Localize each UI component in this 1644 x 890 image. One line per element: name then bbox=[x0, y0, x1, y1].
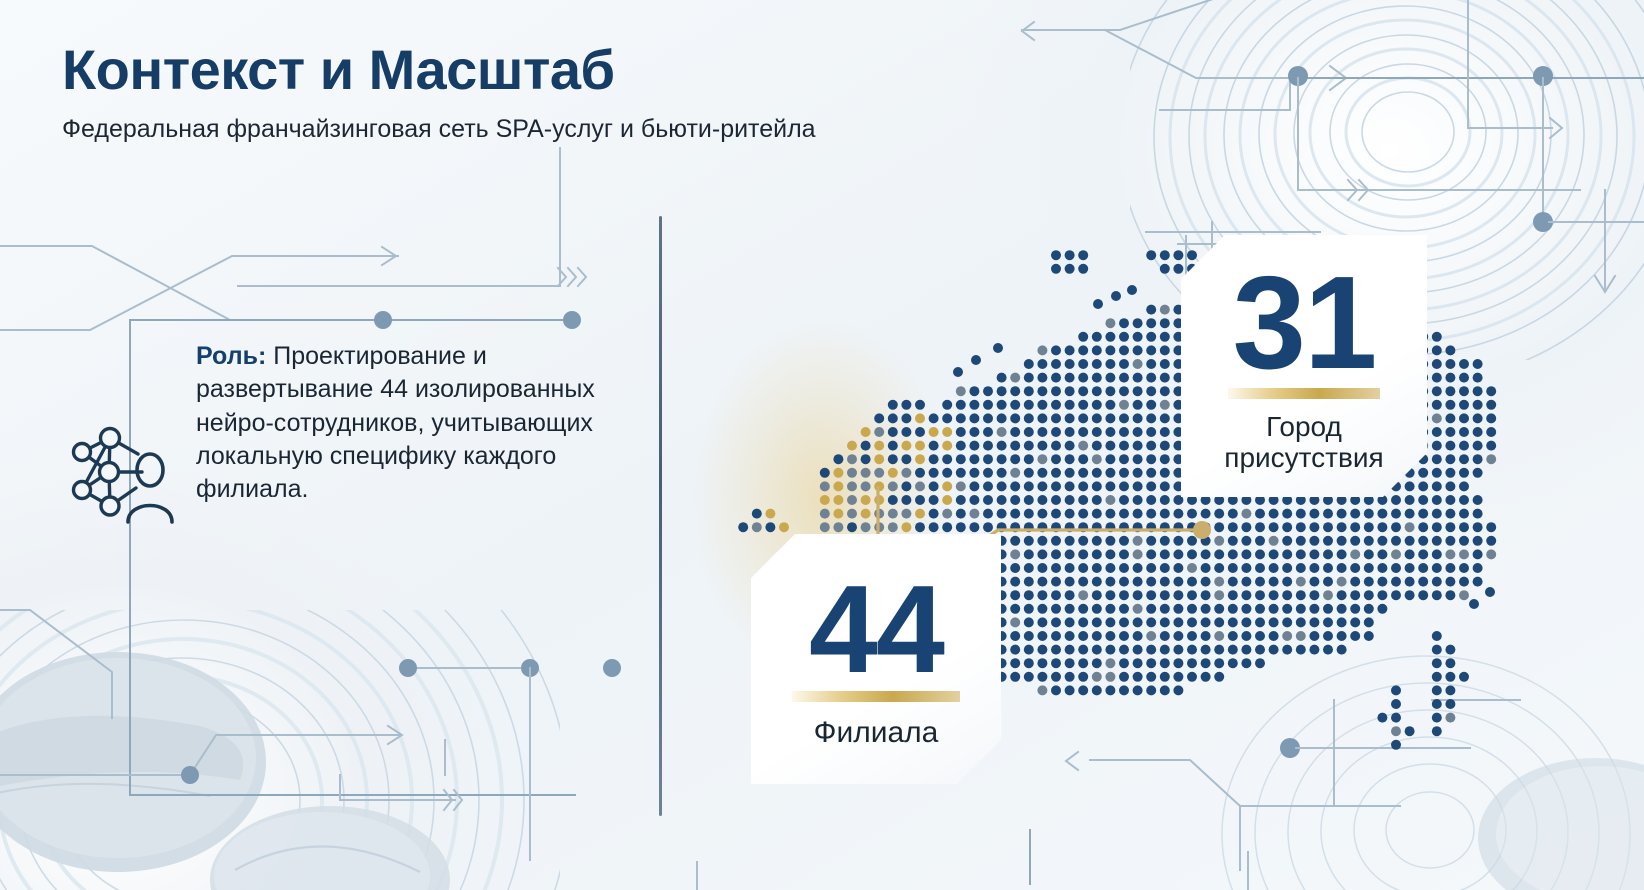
person-body bbox=[128, 506, 172, 523]
stat-value: 31 bbox=[1233, 262, 1376, 383]
circuit-node bbox=[1288, 66, 1308, 86]
circuit-path bbox=[1105, 30, 1300, 78]
circuit-path bbox=[1022, 0, 1240, 30]
gold-underline-bar bbox=[1228, 388, 1380, 399]
circuit-node bbox=[521, 659, 539, 677]
circuit-node bbox=[374, 311, 392, 329]
map-connector-node-31 bbox=[1193, 521, 1211, 539]
circuit-node bbox=[563, 311, 581, 329]
stat-card-branches[interactable]: 44 Филиала bbox=[751, 534, 1001, 784]
stat-label: Филиала bbox=[814, 716, 939, 750]
gold-underline-bar bbox=[792, 691, 960, 702]
circuit-chevron-icon bbox=[1348, 180, 1368, 200]
stat-value: 44 bbox=[809, 573, 943, 687]
circuit-arrow-icon bbox=[1022, 22, 1034, 40]
circuit-node bbox=[399, 659, 417, 677]
page-title: Контекст и Масштаб bbox=[62, 40, 816, 100]
circuit-path bbox=[1298, 78, 1580, 190]
circuit-node bbox=[1533, 66, 1553, 86]
circuit-node bbox=[603, 659, 621, 677]
stat-card-cities[interactable]: 31 Город присутствия bbox=[1181, 235, 1427, 497]
circuit-path bbox=[0, 256, 398, 330]
spa-stone bbox=[0, 652, 266, 872]
slide-root: Контекст и Масштаб Федеральная франчайзи… bbox=[0, 0, 1644, 890]
circuit-arrow-icon bbox=[1330, 66, 1346, 90]
stat-label: Город присутствия bbox=[1224, 411, 1383, 474]
circuit-chevron-icon bbox=[558, 268, 586, 286]
circuit-path bbox=[0, 735, 400, 775]
stat-label-line2: присутствия bbox=[1224, 442, 1383, 473]
circuit-node bbox=[181, 766, 199, 784]
person-head bbox=[137, 454, 163, 486]
stat-label-line1: Филиала bbox=[814, 716, 939, 750]
neural-network-person-icon bbox=[62, 418, 182, 528]
circuit-arrow-icon bbox=[1595, 276, 1615, 292]
circuit-path bbox=[340, 775, 455, 800]
role-paragraph: Роль: Проектирование и развертывание 44 … bbox=[196, 340, 596, 506]
circuit-arrow-icon bbox=[1550, 118, 1562, 138]
role-label: Роль: bbox=[196, 342, 266, 370]
page-subtitle: Федеральная франчайзинговая сеть SPA-усл… bbox=[62, 114, 816, 145]
circuit-path bbox=[238, 148, 560, 286]
circuit-path bbox=[1468, 0, 1552, 128]
circuit-arrow-icon bbox=[388, 726, 402, 744]
circuit-chevron-icon bbox=[444, 790, 462, 810]
stat-label-line1: Город bbox=[1224, 411, 1383, 442]
circuit-arrow-icon bbox=[382, 247, 396, 265]
role-description-panel: Роль: Проектирование и развертывание 44 … bbox=[196, 340, 596, 506]
circuit-path bbox=[0, 610, 112, 718]
header: Контекст и Масштаб Федеральная франчайзи… bbox=[62, 40, 816, 146]
circuit-path bbox=[0, 246, 400, 320]
circuit-node bbox=[1533, 212, 1553, 232]
